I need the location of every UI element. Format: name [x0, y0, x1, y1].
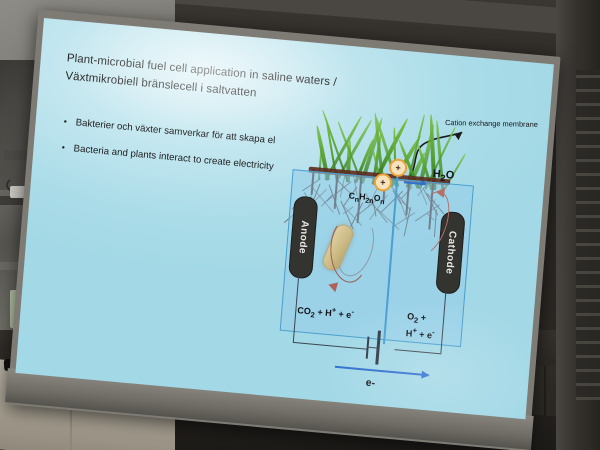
- list-item-label: Bacteria and plants interact to create e…: [73, 143, 274, 174]
- fuel-cell-diagram: Anode Cathode + + CnH2nOn CO2 + H+ + e- …: [261, 102, 513, 412]
- electron-flow-arrow-icon: [335, 366, 429, 377]
- circuit-wire-right: [394, 349, 441, 355]
- cathode-label: Cathode: [443, 231, 457, 275]
- room-right-shutter: [576, 70, 600, 400]
- water-product-formula: H2O: [432, 168, 455, 184]
- electron-flow-label: e-: [365, 377, 375, 390]
- photo-of-projected-slide: Plant-microbial fuel cell application in…: [0, 0, 600, 450]
- slide-surface: Plant-microbial fuel cell application in…: [15, 18, 553, 419]
- bullet-marker-icon: •: [61, 142, 74, 154]
- list-item-label: Bakterier och växter samverkar för att s…: [75, 117, 275, 148]
- projection-screen: Plant-microbial fuel cell application in…: [12, 18, 554, 450]
- circuit-wire-left: [293, 342, 367, 350]
- anode-label: Anode: [296, 220, 310, 254]
- cathode-reaction-formula: O2 +H+ + e-: [405, 310, 436, 342]
- bullet-marker-icon: •: [63, 116, 76, 128]
